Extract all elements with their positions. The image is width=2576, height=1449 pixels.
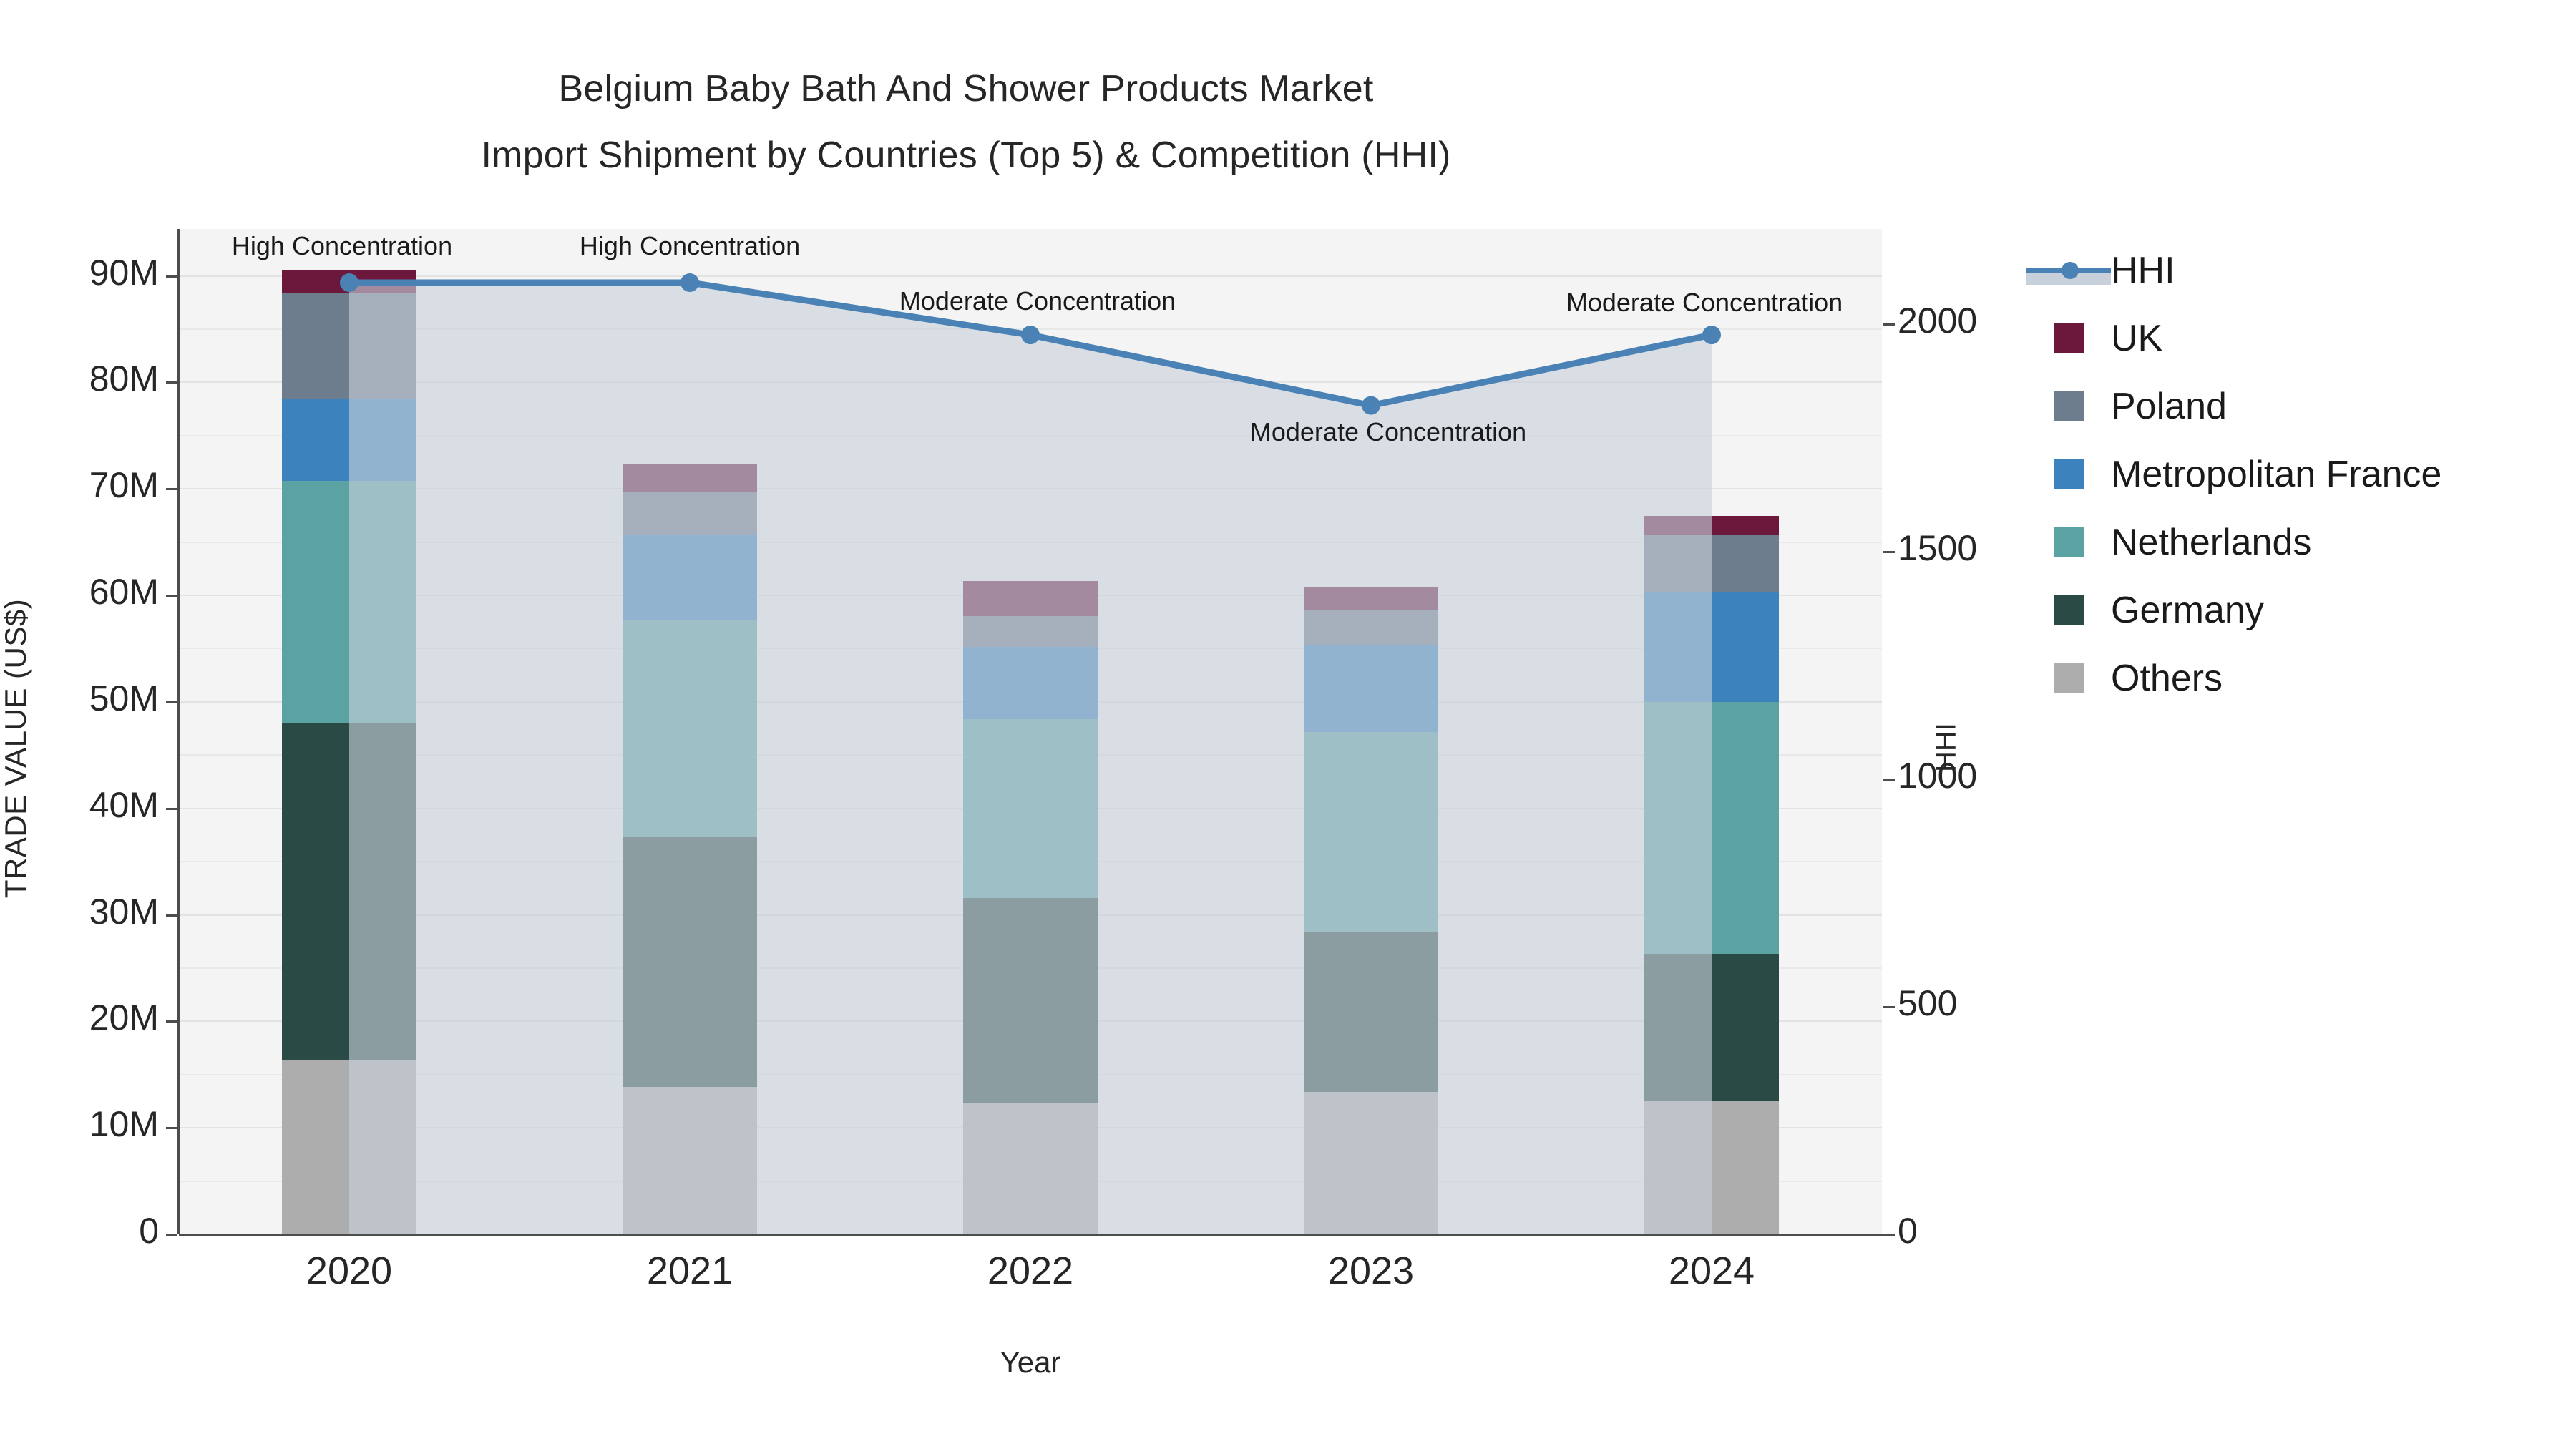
chart-root: Belgium Baby Bath And Shower Products Ma… bbox=[0, 0, 2576, 1449]
x-axis-label: Year bbox=[852, 1345, 1209, 1380]
x-axis-tick-label-2024: 2024 bbox=[1604, 1249, 1819, 1293]
bar-segment[interactable] bbox=[1304, 610, 1438, 645]
y-axis-right-tickmark bbox=[1883, 551, 1895, 553]
y-axis-left-tickmark bbox=[166, 1127, 177, 1129]
bar-segment[interactable] bbox=[623, 535, 757, 620]
bar-segment[interactable] bbox=[1644, 702, 1779, 953]
gridline bbox=[179, 275, 1882, 277]
bar-segment[interactable] bbox=[282, 270, 416, 293]
y-axis-line bbox=[177, 229, 180, 1234]
y-axis-right-tick-label: 500 bbox=[1898, 982, 2077, 1024]
legend-item-germany[interactable]: Germany bbox=[2054, 576, 2555, 644]
bar-segment[interactable] bbox=[623, 1087, 757, 1234]
y-axis-left-tick-label: 90M bbox=[7, 252, 159, 293]
legend-item-poland[interactable]: Poland bbox=[2054, 372, 2555, 440]
gridline bbox=[179, 435, 1882, 436]
legend-item-label: Poland bbox=[2111, 385, 2227, 428]
bar-segment[interactable] bbox=[282, 293, 416, 399]
bar-segment[interactable] bbox=[623, 464, 757, 491]
bar-segment[interactable] bbox=[963, 898, 1098, 1103]
bar-segment[interactable] bbox=[282, 1060, 416, 1234]
legend-color-swatch bbox=[2054, 391, 2084, 421]
legend-item-uk[interactable]: UK bbox=[2054, 304, 2555, 372]
y-axis-left-tickmark bbox=[166, 488, 177, 490]
bar-segment[interactable] bbox=[1644, 535, 1779, 592]
bar-segment[interactable] bbox=[1304, 732, 1438, 932]
legend-color-swatch bbox=[2054, 663, 2084, 693]
legend-line-swatch bbox=[2026, 255, 2111, 286]
y-axis-left-tick-label: 10M bbox=[7, 1103, 159, 1145]
annotation-2023: Moderate Concentration bbox=[1250, 417, 1526, 447]
y-axis-right-label: HHI bbox=[1931, 605, 1963, 891]
y-axis-left-tickmark bbox=[166, 1234, 177, 1236]
bar-segment[interactable] bbox=[963, 647, 1098, 719]
y-axis-right-tick-label: 2000 bbox=[1898, 300, 2077, 341]
chart-title: Belgium Baby Bath And Shower Products Ma… bbox=[0, 56, 1932, 189]
y-axis-left-tickmark bbox=[166, 808, 177, 810]
bar-segment[interactable] bbox=[963, 719, 1098, 898]
annotation-2021: High Concentration bbox=[580, 231, 800, 261]
bar-segment[interactable] bbox=[282, 481, 416, 723]
legend-item-netherlands[interactable]: Netherlands bbox=[2054, 508, 2555, 576]
chart-title-line-2: Import Shipment by Countries (Top 5) & C… bbox=[0, 122, 1932, 189]
annotation-2020: High Concentration bbox=[232, 231, 452, 261]
bar-segment[interactable] bbox=[1304, 587, 1438, 611]
x-axis-tick-label-2021: 2021 bbox=[582, 1249, 797, 1293]
legend-item-others[interactable]: Others bbox=[2054, 644, 2555, 712]
legend-item-label: Germany bbox=[2111, 589, 2264, 632]
y-axis-left-label: TRADE VALUE (US$) bbox=[0, 391, 33, 1106]
x-axis-line bbox=[179, 1234, 1885, 1236]
legend-color-swatch bbox=[2054, 595, 2084, 625]
legend-item-metropolitan-france[interactable]: Metropolitan France bbox=[2054, 440, 2555, 508]
y-axis-right-tickmark bbox=[1883, 779, 1895, 781]
legend-item-label: HHI bbox=[2111, 249, 2175, 292]
y-axis-left-tickmark bbox=[166, 701, 177, 703]
y-axis-right-tick-label: 0 bbox=[1898, 1210, 2077, 1252]
legend-item-label: Netherlands bbox=[2111, 521, 2311, 564]
legend: HHIUKPolandMetropolitan FranceNetherland… bbox=[2054, 236, 2555, 712]
y-axis-right-tick-label: 1500 bbox=[1898, 527, 2077, 569]
gridline bbox=[179, 488, 1882, 489]
y-axis-left-tickmark bbox=[166, 914, 177, 917]
y-axis-left-tickmark bbox=[166, 1020, 177, 1023]
y-axis-right-tickmark bbox=[1883, 1234, 1895, 1236]
bar-segment[interactable] bbox=[963, 1103, 1098, 1234]
bar-segment[interactable] bbox=[1304, 932, 1438, 1092]
y-axis-left-tickmark bbox=[166, 275, 177, 278]
x-axis-tick-label-2022: 2022 bbox=[923, 1249, 1138, 1293]
legend-item-label: Metropolitan France bbox=[2111, 453, 2441, 496]
bar-segment[interactable] bbox=[963, 616, 1098, 647]
bar-segment[interactable] bbox=[623, 837, 757, 1086]
bar-segment[interactable] bbox=[1644, 516, 1779, 535]
legend-item-hhi[interactable]: HHI bbox=[2054, 236, 2555, 304]
legend-color-swatch bbox=[2054, 323, 2084, 353]
bar-segment[interactable] bbox=[282, 723, 416, 1060]
legend-item-label: Others bbox=[2111, 657, 2223, 700]
legend-color-swatch bbox=[2054, 527, 2084, 557]
chart-title-line-1: Belgium Baby Bath And Shower Products Ma… bbox=[0, 56, 1932, 122]
y-axis-right-tick-label: 1000 bbox=[1898, 755, 2077, 796]
bar-segment[interactable] bbox=[623, 492, 757, 535]
y-axis-left-tickmark bbox=[166, 381, 177, 384]
gridline bbox=[179, 542, 1882, 543]
annotation-2022: Moderate Concentration bbox=[899, 286, 1176, 316]
x-axis-tick-label-2020: 2020 bbox=[242, 1249, 457, 1293]
y-axis-left-tickmark bbox=[166, 595, 177, 597]
bar-segment[interactable] bbox=[1644, 1101, 1779, 1234]
gridline bbox=[179, 328, 1882, 330]
legend-item-label: UK bbox=[2111, 317, 2162, 360]
bar-segment[interactable] bbox=[623, 620, 757, 838]
x-axis-tick-label-2023: 2023 bbox=[1264, 1249, 1478, 1293]
y-axis-left-tick-label: 0 bbox=[7, 1210, 159, 1252]
bar-segment[interactable] bbox=[1304, 645, 1438, 732]
legend-color-swatch bbox=[2054, 459, 2084, 489]
y-axis-right-tickmark bbox=[1883, 1006, 1895, 1008]
gridline bbox=[179, 381, 1882, 383]
bar-segment[interactable] bbox=[282, 399, 416, 481]
bar-segment[interactable] bbox=[963, 581, 1098, 616]
y-axis-right-tickmark bbox=[1883, 323, 1895, 326]
annotation-2024: Moderate Concentration bbox=[1566, 288, 1843, 318]
bar-segment[interactable] bbox=[1644, 592, 1779, 702]
bar-segment[interactable] bbox=[1644, 954, 1779, 1102]
bar-segment[interactable] bbox=[1304, 1092, 1438, 1234]
